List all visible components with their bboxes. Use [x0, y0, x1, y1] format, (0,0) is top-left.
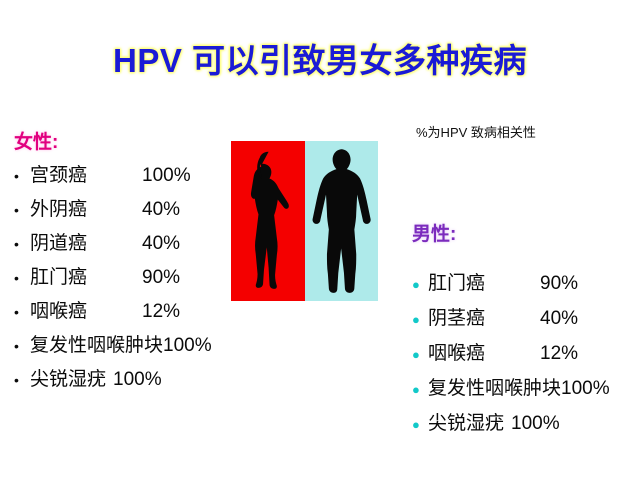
- male-silhouette-icon: [309, 146, 375, 298]
- bullet-icon: •: [14, 373, 30, 387]
- disease-percent: 90%: [540, 273, 598, 295]
- bullet-icon: •: [14, 203, 30, 217]
- disease-percent: 40%: [540, 308, 598, 330]
- gender-figure-image: [231, 141, 378, 301]
- disease-percent: 100%: [142, 165, 200, 187]
- bullet-icon: ●: [412, 418, 428, 431]
- disease-name: 宫颈癌: [30, 160, 142, 187]
- list-item: • 尖锐湿疣 100%: [14, 364, 212, 391]
- disease-name: 肛门癌: [428, 268, 540, 295]
- disease-percent: 12%: [142, 301, 200, 323]
- disease-percent: 100%: [504, 413, 560, 435]
- list-item: • 阴道癌 40%: [14, 228, 212, 255]
- list-item: ● 肛门癌 90%: [412, 268, 610, 295]
- disease-name: 阴道癌: [30, 228, 142, 255]
- female-silhouette-icon: [237, 149, 300, 296]
- male-disease-list: ● 肛门癌 90% ● 阴茎癌 40% ● 咽喉癌 12% ● 复发性咽喉肿块 …: [412, 268, 610, 443]
- disease-name: 咽喉癌: [30, 296, 142, 323]
- slide-canvas: HPV 可以引致男女多种疾病 %为HPV 致病相关性 女性: • 宫颈癌 100…: [0, 0, 640, 479]
- bullet-icon: ●: [412, 348, 428, 361]
- disease-percent: 40%: [142, 233, 200, 255]
- disease-name: 复发性咽喉肿块: [30, 330, 163, 357]
- disease-percent: 100%: [561, 378, 610, 400]
- female-section-heading: 女性:: [14, 127, 58, 154]
- disease-name: 外阴癌: [30, 194, 142, 221]
- bullet-icon: ●: [412, 278, 428, 291]
- list-item: • 复发性咽喉肿块 100%: [14, 330, 212, 357]
- bullet-icon: •: [14, 237, 30, 251]
- disease-name: 肛门癌: [30, 262, 142, 289]
- disease-percent: 100%: [163, 335, 212, 357]
- bullet-icon: •: [14, 305, 30, 319]
- disease-name: 尖锐湿疣: [428, 408, 504, 435]
- disease-percent: 90%: [142, 267, 200, 289]
- list-item: • 外阴癌 40%: [14, 194, 212, 221]
- disease-name: 阴茎癌: [428, 303, 540, 330]
- bullet-icon: •: [14, 271, 30, 285]
- list-item: • 肛门癌 90%: [14, 262, 212, 289]
- bullet-icon: •: [14, 339, 30, 353]
- female-figure-panel: [231, 141, 305, 301]
- list-item: • 宫颈癌 100%: [14, 160, 212, 187]
- list-item: ● 复发性咽喉肿块 100%: [412, 373, 610, 400]
- bullet-icon: ●: [412, 313, 428, 326]
- page-title: HPV 可以引致男女多种疾病: [0, 44, 640, 79]
- bullet-icon: •: [14, 169, 30, 183]
- disease-name: 复发性咽喉肿块: [428, 373, 561, 400]
- list-item: ● 阴茎癌 40%: [412, 303, 610, 330]
- disease-name: 尖锐湿疣: [30, 364, 106, 391]
- hpv-relevance-note: %为HPV 致病相关性: [416, 122, 536, 141]
- list-item: ● 咽喉癌 12%: [412, 338, 610, 365]
- disease-percent: 100%: [106, 369, 162, 391]
- list-item: • 咽喉癌 12%: [14, 296, 212, 323]
- disease-name: 咽喉癌: [428, 338, 540, 365]
- male-section-heading: 男性:: [412, 219, 456, 246]
- list-item: ● 尖锐湿疣 100%: [412, 408, 610, 435]
- male-figure-panel: [305, 141, 379, 301]
- disease-percent: 40%: [142, 199, 200, 221]
- female-disease-list: • 宫颈癌 100% • 外阴癌 40% • 阴道癌 40% • 肛门癌 90%…: [14, 160, 212, 398]
- disease-percent: 12%: [540, 343, 598, 365]
- bullet-icon: ●: [412, 383, 428, 396]
